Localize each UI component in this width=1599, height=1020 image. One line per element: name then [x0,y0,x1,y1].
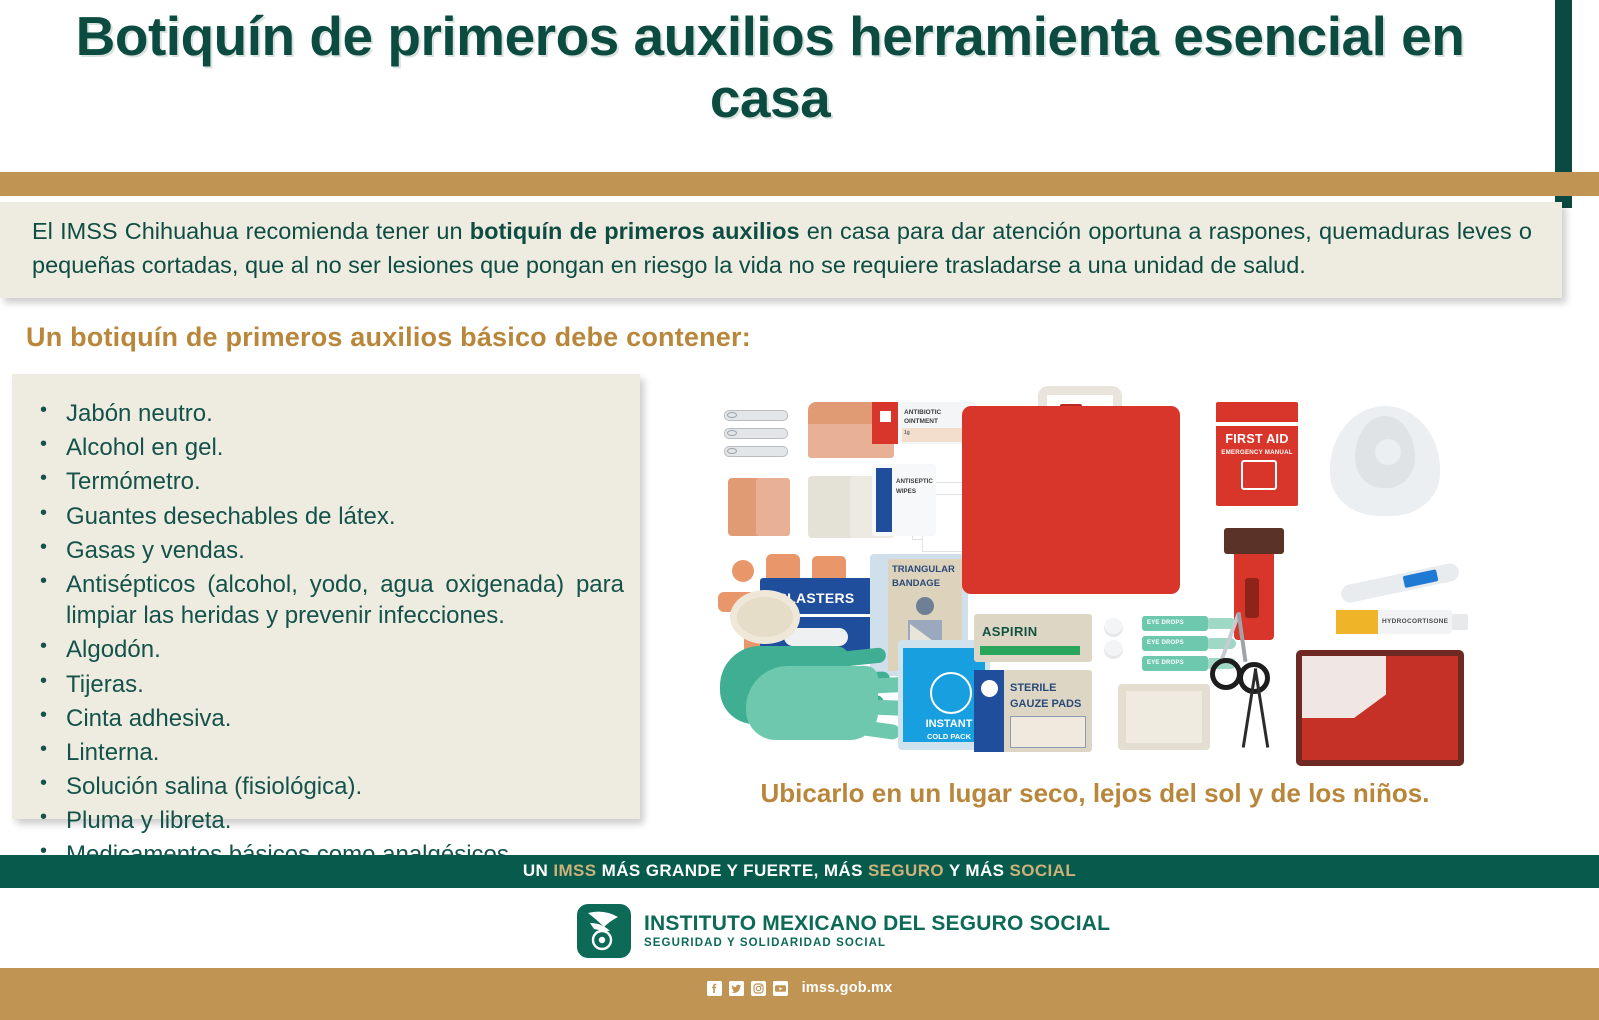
aspirin-label: ASPIRIN [982,624,1038,639]
slogan-mid: MÁS GRANDE Y FUERTE, MÁS [597,861,868,880]
eagle-glyph-icon [584,909,624,953]
illustration-caption: Ubicarlo en un lugar seco, lejos del sol… [700,778,1490,809]
eye-drops-package: EYE DROPS [1142,636,1208,651]
social-links: imss.gob.mx [0,980,1599,996]
youtube-icon[interactable] [773,981,788,996]
safety-pin-icon [724,428,788,439]
intro-text-bold: botiquín de primeros auxilios [470,218,800,244]
list-item: Termómetro. [34,466,624,497]
blanket-fold [1302,656,1386,718]
first-aid-manual-book: FIRST AID EMERGENCY MANUAL [1216,402,1298,506]
cold-pack-blue-panel: INSTANT COLD PACK [903,648,985,742]
eye-drops-label: EYE DROPS [1147,660,1184,666]
safety-pin-icon [724,410,788,421]
list-item: Solución salina (fisiológica). [34,771,624,802]
kit-icon [1241,460,1277,490]
book-title: FIRST AID [1216,432,1298,446]
ointment-red-panel [872,402,898,444]
ointment-label-line1: ANTIBIOTIC [904,409,941,416]
intro-text-part1: El IMSS Chihuahua recomienda tener un [32,218,470,244]
list-item: Pluma y libreta. [34,805,624,836]
pill-icon [1104,618,1123,637]
snowflake-icon [930,672,972,714]
footer-slogan: UN IMSS MÁS GRANDE Y FUERTE, MÁS SEGURO … [0,861,1599,881]
intro-paragraph: El IMSS Chihuahua recomienda tener un bo… [0,202,1562,294]
flashlight-head-icon [1224,528,1284,554]
intro-panel: El IMSS Chihuahua recomienda tener un bo… [0,202,1562,298]
thermometer-display [1403,569,1439,588]
instagram-icon[interactable] [751,981,766,996]
eye-drops-package: EYE DROPS [1142,656,1208,671]
first-aid-kit-illustration: ANTIBIOTIC OINTMENT 1g ANTISEPTIC WIPES … [700,378,1490,773]
list-item: Alcohol en gel. [34,432,624,463]
slogan-mid2: Y MÁS [944,861,1009,880]
emergency-blanket-icon [1296,650,1464,766]
gauze-roll-2-icon [756,478,790,536]
website-url[interactable]: imss.gob.mx [802,980,893,996]
list-item: Guantes desechables de látex. [34,501,624,532]
antiseptic-wipes-package: ANTISEPTIC WIPES [872,464,936,536]
list-item: Cinta adhesiva. [34,703,624,734]
ointment-label-line2: OINTMENT [904,418,938,425]
checklist: Jabón neutro. Alcohol en gel. Termómetro… [12,374,640,871]
tube-cap-icon [1452,614,1468,630]
imss-eagle-logo-icon [577,904,631,958]
adhesive-tape-roll-icon [730,590,800,644]
sterile-gauze-pads-package: STERILE GAUZE PADS [974,670,1092,752]
list-item: Linterna. [34,737,624,768]
kit-cross-horizontal [1305,517,1361,535]
tan-divider-band [0,172,1599,196]
eye-drops-label: EYE DROPS [1147,640,1184,646]
checklist-panel: Jabón neutro. Alcohol en gel. Termómetro… [12,374,640,819]
wipes-label-line2: WIPES [896,488,916,495]
logo-area: INSTITUTO MEXICANO DEL SEGURO SOCIAL SEG… [0,896,1599,968]
list-item: Tijeras. [34,669,624,700]
gauze-label-line1: STERILE [1010,682,1056,694]
book-white-band [1216,422,1298,426]
scissors-ring-icon [1210,658,1242,690]
medical-cross-icon [880,411,891,422]
gauze-label-line2: GAUZE PADS [1010,698,1081,710]
gauze-square-pad-icon [1118,684,1210,750]
logo-institution-tagline: SEGURIDAD Y SOLIDARIDAD SOCIAL [644,937,1110,949]
facebook-icon[interactable] [707,981,722,996]
section-heading: Un botiquín de primeros auxilios básico … [26,322,751,353]
slogan-imss: IMSS [553,861,596,880]
first-aid-kit-box [962,406,1180,594]
pill-icon [1104,640,1123,659]
hydrocortisone-label: HYDROCORTISONE [1382,618,1448,625]
aspirin-package: ASPIRIN [974,614,1092,662]
wipes-blue-panel [876,468,892,532]
eye-drops-label: EYE DROPS [1147,620,1184,626]
hydrocortisone-tube: HYDROCORTISONE [1336,610,1452,634]
book-subtitle: EMERGENCY MANUAL [1216,449,1298,456]
slogan-seguro: SEGURO [868,861,944,880]
ointment-label-weight: 1g [904,430,910,436]
triangular-label-line2: BANDAGE [892,578,940,589]
list-item: Antisépticos (alcohol, yodo, agua oxigen… [34,569,624,631]
wipes-label-line1: ANTISEPTIC [896,478,933,485]
header-banner: Botiquín de primeros auxilios herramient… [0,0,1599,170]
gauze-hand-illustration-icon [1010,716,1086,748]
slogan-pre: UN [523,861,553,880]
list-item: Jabón neutro. [34,398,624,429]
list-item: Gasas y vendas. [34,535,624,566]
medical-cross-icon [981,680,998,697]
page-title: Botiquín de primeros auxilios herramient… [40,6,1500,129]
eye-drops-package: EYE DROPS [1142,616,1208,631]
aspirin-green-stripe [980,646,1080,655]
twitter-icon[interactable] [729,981,744,996]
flashlight-grip-icon [1245,578,1259,618]
gauze-square-inner [1126,691,1202,743]
round-bandaid-icon [732,560,754,582]
triangular-label-line1: TRIANGULAR [892,564,955,575]
slogan-social: SOCIAL [1010,861,1077,880]
cpr-mask-valve-icon [1372,436,1404,468]
gauze-blue-spine [974,670,1004,752]
safety-pin-icon [724,446,788,457]
logo-text-block: INSTITUTO MEXICANO DEL SEGURO SOCIAL SEG… [644,913,1110,949]
tube-yellow-panel [1336,610,1378,634]
logo-institution-name: INSTITUTO MEXICANO DEL SEGURO SOCIAL [644,913,1110,935]
list-item: Algodón. [34,634,624,665]
imss-logo: INSTITUTO MEXICANO DEL SEGURO SOCIAL SEG… [577,904,1110,958]
antibiotic-ointment-package: ANTIBIOTIC OINTMENT 1g [872,402,976,444]
